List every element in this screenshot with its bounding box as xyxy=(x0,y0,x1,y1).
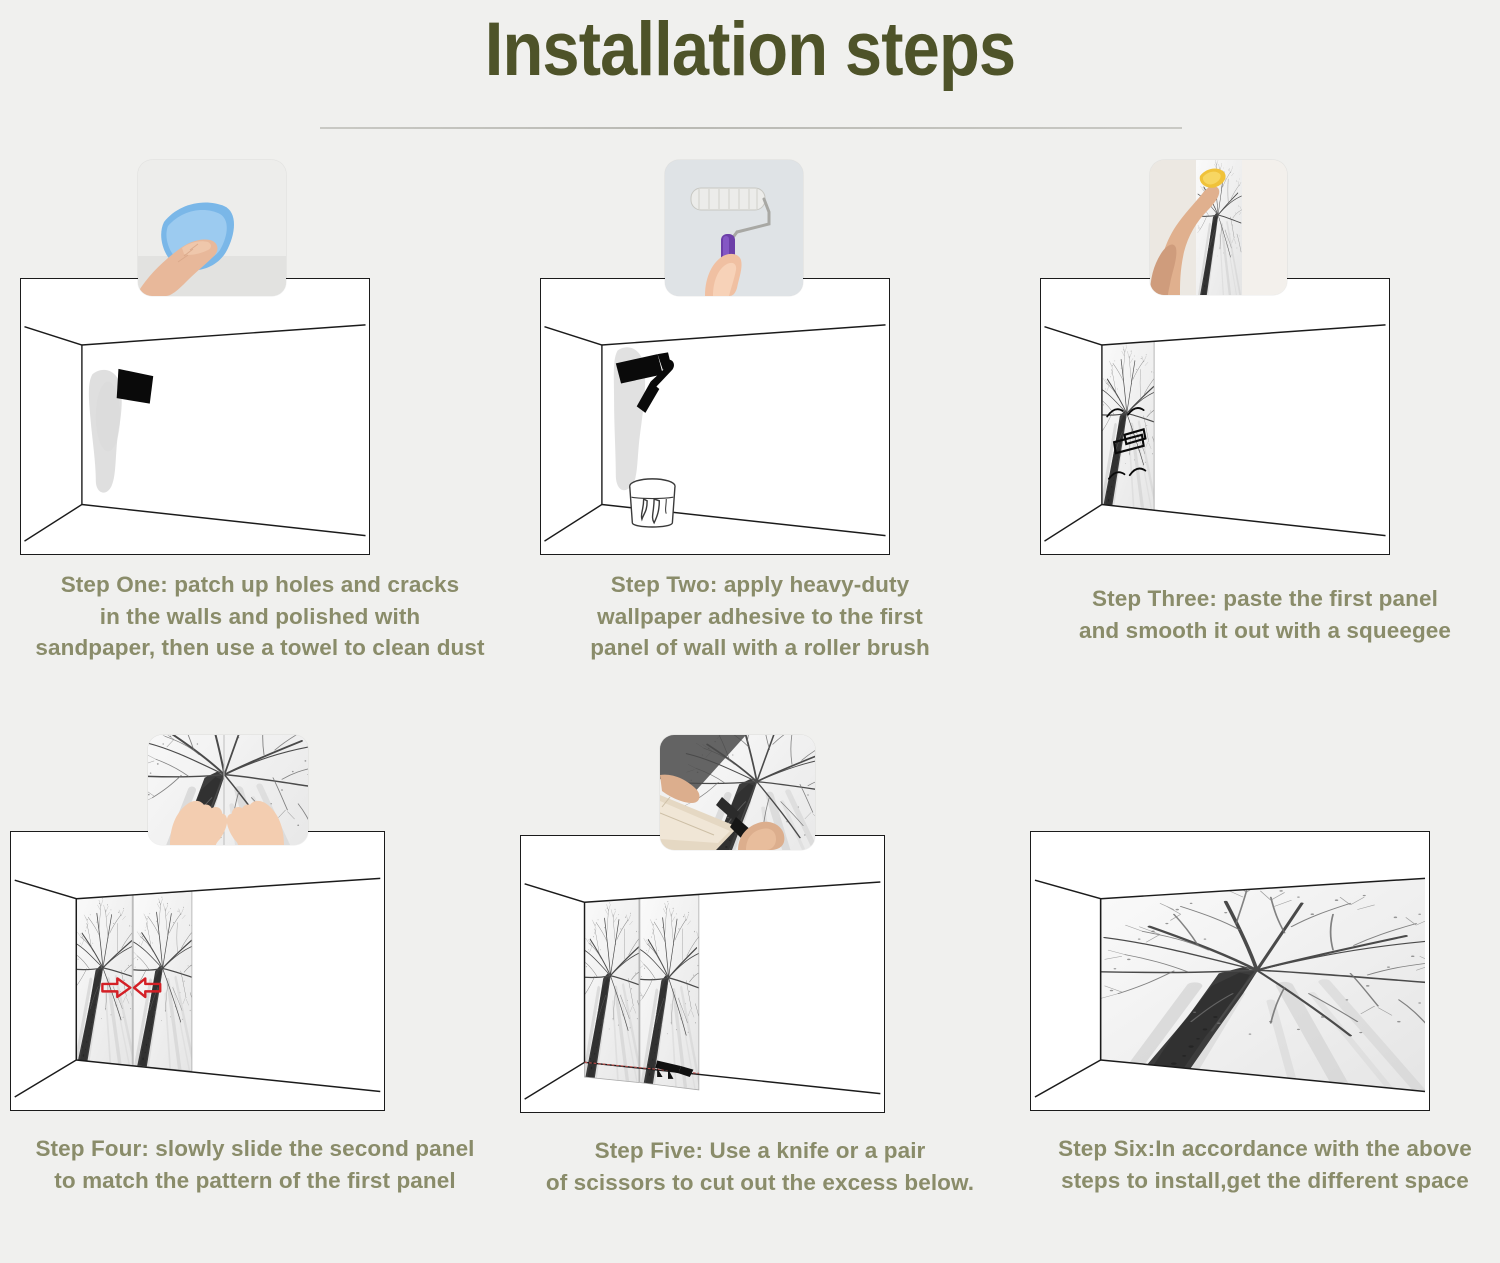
step-four: Step Four: slowly slide the second panel… xyxy=(10,735,500,1196)
caption-line: Step Two: apply heavy-duty xyxy=(540,569,980,601)
room-diagram-step-two xyxy=(540,278,890,555)
mural-panel-1 xyxy=(1097,334,1160,517)
caption-line: Step Six:In accordance with the above xyxy=(1030,1133,1500,1165)
room-diagram-step-five xyxy=(520,835,885,1113)
mural-panels xyxy=(71,886,198,1077)
caption-line: Step One: patch up holes and cracks xyxy=(20,569,500,601)
caption-line: panel of wall with a roller brush xyxy=(540,632,980,664)
step-five-caption: Step Five: Use a knife or a pair of scis… xyxy=(520,1135,1000,1198)
caption-line: to match the pattern of the first panel xyxy=(10,1165,500,1197)
room-diagram-step-one xyxy=(20,278,370,555)
step-one-caption: Step One: patch up holes and cracks in t… xyxy=(20,569,500,664)
step-three: Step Three: paste the first panel and sm… xyxy=(1040,160,1490,646)
caption-line: Step Three: paste the first panel xyxy=(1040,583,1490,615)
person-applying-mural-panel-photo xyxy=(1150,160,1287,295)
paint-bucket-icon xyxy=(630,479,675,527)
step-one: Step One: patch up holes and cracks in t… xyxy=(20,160,500,664)
step-four-caption: Step Four: slowly slide the second panel… xyxy=(10,1133,500,1196)
caption-line: of scissors to cut out the excess below. xyxy=(520,1167,1000,1199)
caption-line: and smooth it out with a squeegee xyxy=(1040,615,1490,647)
step-two: Step Two: apply heavy-duty wallpaper adh… xyxy=(540,160,980,664)
step-six: Step Six:In accordance with the above st… xyxy=(1030,735,1500,1196)
two-hands-smoothing-mural-panels-photo xyxy=(148,735,308,845)
caption-line: steps to install,get the different space xyxy=(1030,1165,1500,1197)
room-diagram-step-four xyxy=(10,831,385,1111)
step-five: Step Five: Use a knife or a pair of scis… xyxy=(520,735,1000,1198)
steps-grid: Step One: patch up holes and cracks in t… xyxy=(0,160,1500,1260)
hand-wiping-wall-with-blue-cloth-photo xyxy=(138,160,286,296)
caption-line: Step Five: Use a knife or a pair xyxy=(520,1135,1000,1167)
caption-line: Step Four: slowly slide the second panel xyxy=(10,1133,500,1165)
caption-line: sandpaper, then use a towel to clean dus… xyxy=(20,632,500,664)
step-six-caption: Step Six:In accordance with the above st… xyxy=(1030,1133,1500,1196)
room-diagram-step-three xyxy=(1040,278,1390,555)
room-diagram-step-six xyxy=(1030,831,1430,1111)
step-three-caption: Step Three: paste the first panel and sm… xyxy=(1040,583,1490,646)
title-divider xyxy=(320,127,1182,129)
caption-line: wallpaper adhesive to the first xyxy=(540,601,980,633)
hand-holding-paint-roller-photo xyxy=(665,160,803,296)
step-two-caption: Step Two: apply heavy-duty wallpaper adh… xyxy=(540,569,980,664)
hands-cutting-mural-with-knife-photo xyxy=(660,735,815,850)
caption-line: in the walls and polished with xyxy=(20,601,500,633)
page-title: Installation steps xyxy=(90,8,1410,92)
